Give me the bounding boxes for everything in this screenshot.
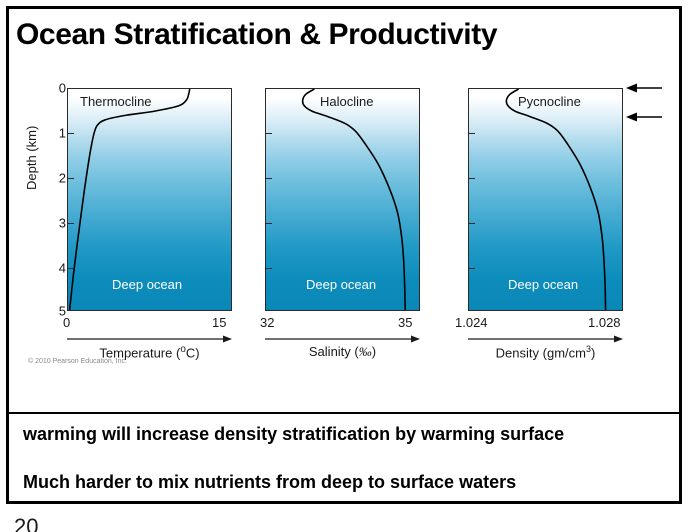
page-title: Ocean Stratification & Productivity <box>16 18 497 52</box>
deep-ocean-label-p3: Deep ocean <box>508 277 578 292</box>
bullet-item-1: warming will increase density stratifica… <box>23 424 663 445</box>
thermocline-label: Thermocline <box>80 94 152 109</box>
temperature-axis-arrow <box>67 334 232 344</box>
copyright-notice: © 2010 Pearson Education, Inc. <box>28 358 127 365</box>
depth-tickmark-3-p3 <box>468 223 475 224</box>
density-axis-title: Density (gm/cm3) <box>468 344 623 360</box>
deep-ocean-label-p1: Deep ocean <box>112 277 182 292</box>
depth-tick-0: 0 <box>59 81 66 96</box>
bottom-text-box: warming will increase density stratifica… <box>6 412 682 504</box>
halocline-label: Halocline <box>320 94 373 109</box>
salinity-axis-title: Salinity (‰) <box>265 344 420 360</box>
depth-tick-3: 3 <box>59 216 66 231</box>
depth-tickmark-2-p3 <box>468 178 475 179</box>
depth-tickmark-1-p2 <box>265 133 272 134</box>
depth-tickmark-3-p1 <box>67 223 74 224</box>
bullet-item-2: Much harder to mix nutrients from deep t… <box>23 472 663 493</box>
deep-ocean-label-p2: Deep ocean <box>306 277 376 292</box>
depth-axis-title: Depth (km) <box>24 126 39 190</box>
depth-axis: Depth (km) 0 1 2 3 4 5 <box>40 72 70 312</box>
salinity-xtick-min: 32 <box>260 315 274 330</box>
density-xtick-min: 1.024 <box>455 315 488 330</box>
slide-canvas: Ocean Stratification & Productivity Dept… <box>0 0 696 532</box>
depth-tickmark-4-p2 <box>265 268 272 269</box>
depth-tick-2: 2 <box>59 171 66 186</box>
depth-tickmark-3-p2 <box>265 223 272 224</box>
pycnocline-label: Pycnocline <box>518 94 581 109</box>
temperature-xtick-min: 0 <box>63 315 70 330</box>
depth-tickmark-2-p1 <box>67 178 74 179</box>
depth-tickmark-1-p1 <box>67 133 74 134</box>
depth-tick-1: 1 <box>59 126 66 141</box>
density-xtick-max: 1.028 <box>588 315 621 330</box>
salinity-xtick-max: 35 <box>398 315 412 330</box>
depth-tickmark-4-p1 <box>67 268 74 269</box>
figure-container: Depth (km) 0 1 2 3 4 5 Thermocline Deep … <box>0 72 676 372</box>
density-axis-arrow <box>468 334 623 344</box>
surface-pointer-arrow-2 <box>626 112 662 122</box>
depth-tickmark-1-p3 <box>468 133 475 134</box>
depth-tickmark-2-p2 <box>265 178 272 179</box>
salinity-axis-arrow <box>265 334 420 344</box>
depth-tick-4: 4 <box>59 261 66 276</box>
slide-page-number: 20 <box>14 514 38 532</box>
surface-pointer-arrow-1 <box>626 83 662 93</box>
depth-tickmark-4-p3 <box>468 268 475 269</box>
temperature-xtick-max: 15 <box>212 315 226 330</box>
